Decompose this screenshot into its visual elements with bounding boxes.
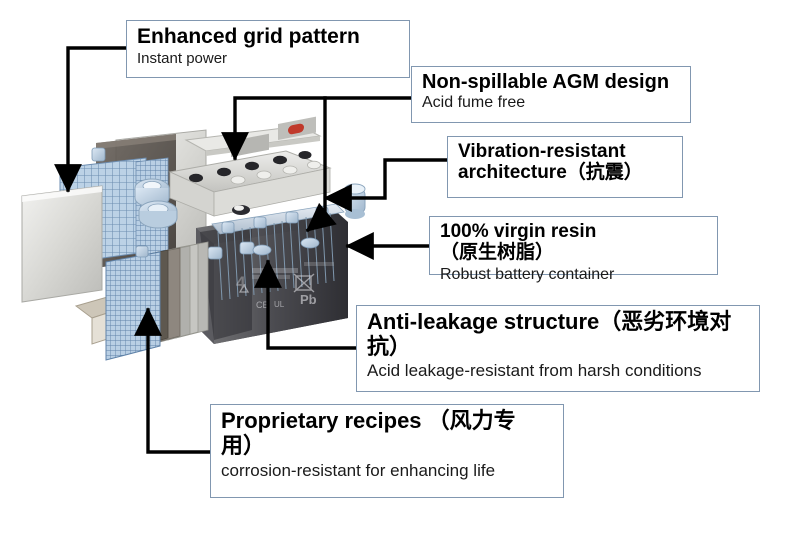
callout-title: 100% virgin resin（原生树脂） [440,221,709,264]
callout-vibration-resistant-architecture[interactable]: Vibration-resistant architecture（抗震） [447,136,683,198]
callout-title: Anti-leakage structure（恶劣环境对 [367,310,751,336]
callout-chinese: （风力专 [428,409,516,434]
callout-enhanced-grid-pattern[interactable]: Enhanced grid pattern Instant power [126,20,410,78]
callout-title: Proprietary recipes （风力专 [221,409,555,435]
battery-container-group: 4 Pb CE UL [196,204,348,344]
callout-anti-leakage-structure[interactable]: Anti-leakage structure（恶劣环境对 抗） Acid lea… [356,305,760,392]
leader-vibration [326,160,447,198]
callout-subtitle: Acid fume free [422,94,682,113]
callout-title: Vibration-resistant [458,141,674,162]
svg-text:UL: UL [274,300,285,309]
callout-title: Enhanced grid pattern [137,25,401,49]
callout-subtitle: Robust battery container [440,266,709,285]
diagram-canvas: 4 Pb CE UL [0,0,790,540]
callout-subtitle: Instant power [137,50,401,67]
callout-non-spillable-agm-design[interactable]: Non-spillable AGM design Acid fume free [411,66,691,123]
callout-subtitle: corrosion-resistant for enhancing life [221,461,555,481]
callout-virgin-resin[interactable]: 100% virgin resin（原生树脂） Robust battery c… [429,216,718,275]
callout-subtitle: Acid leakage-resistant from harsh condit… [367,361,751,381]
svg-text:Pb: Pb [300,292,317,307]
callout-chinese: （抗震） [567,161,643,183]
callout-proprietary-recipes[interactable]: Proprietary recipes （风力专 用） corrosion-re… [210,404,564,498]
callout-chinese-line2: 抗） [367,336,751,361]
callout-title-line2: architecture（抗震） [458,162,674,183]
callout-chinese: （恶劣环境对 [599,310,731,335]
callout-title: Non-spillable AGM design [422,71,682,93]
callout-chinese-line2: 用） [221,435,555,460]
callout-chinese: （原生树脂） [440,241,554,263]
